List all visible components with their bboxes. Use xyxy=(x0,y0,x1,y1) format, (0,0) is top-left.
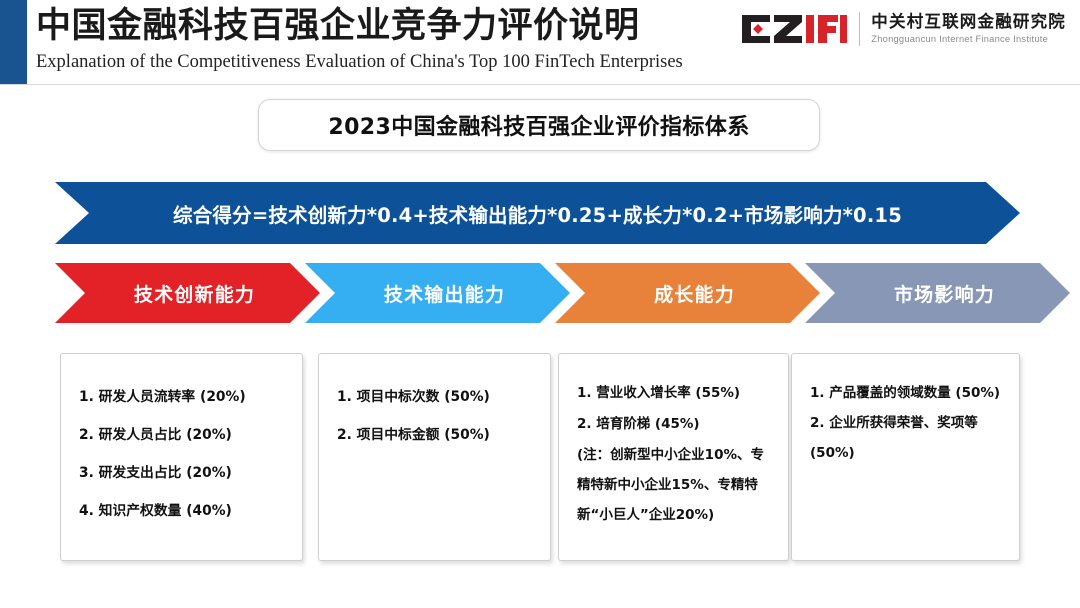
institute-logo: 中关村互联网金融研究院 Zhongguancun Internet Financ… xyxy=(740,12,1066,46)
formula-banner: 综合得分=技术创新力*0.4+技术输出能力*0.25+成长力*0.2+市场影响力… xyxy=(55,182,1020,244)
czifi-logo-icon xyxy=(740,14,848,44)
list-item-note: (注：创新型中小企业10%、专精特新中小企业15%、专精特新“小巨人”企业20%… xyxy=(577,440,774,530)
chevron-label-1: 技术输出能力 xyxy=(370,280,505,307)
chevron-market-influence[interactable]: 市场影响力 xyxy=(805,263,1070,323)
formula-text: 综合得分=技术创新力*0.4+技术输出能力*0.25+成长力*0.2+市场影响力… xyxy=(173,199,902,228)
list-item: 4. 知识产权数量 (40%) xyxy=(79,492,288,530)
section-title-text: 2023中国金融科技百强企业评价指标体系 xyxy=(328,109,749,141)
page-title-en: Explanation of the Competitiveness Evalu… xyxy=(36,50,736,74)
chevron-technology-innovation[interactable]: 技术创新能力 xyxy=(55,263,320,323)
header-accent-bar xyxy=(0,0,27,85)
list-item: 1. 营业收入增长率 (55%) xyxy=(577,378,774,409)
logo-divider xyxy=(859,12,860,46)
logo-name-cn: 中关村互联网金融研究院 xyxy=(871,14,1066,31)
slide-root: 中国金融科技百强企业竞争力评价说明 Explanation of the Com… xyxy=(0,0,1080,608)
header: 中国金融科技百强企业竞争力评价说明 Explanation of the Com… xyxy=(36,4,736,74)
list-item: 1. 研发人员流转率 (20%) xyxy=(79,378,288,416)
card-technology-output: 1. 项目中标次数 (50%) 2. 项目中标金额 (50%) xyxy=(318,353,551,561)
page-title-cn: 中国金融科技百强企业竞争力评价说明 xyxy=(36,4,736,48)
list-item: 3. 研发支出占比 (20%) xyxy=(79,454,288,492)
dimension-chevrons: 技术创新能力 技术输出能力 成长能力 市场影响力 xyxy=(55,263,1020,323)
chevron-label-3: 市场影响力 xyxy=(880,280,995,307)
chevron-label-2: 成长能力 xyxy=(640,280,735,307)
chevron-growth[interactable]: 成长能力 xyxy=(555,263,820,323)
indicator-cards: 1. 研发人员流转率 (20%) 2. 研发人员占比 (20%) 3. 研发支出… xyxy=(60,353,1020,565)
list-item: 2. 培育阶梯 (45%) xyxy=(577,409,774,440)
list-item: 1. 产品覆盖的领域数量 (50%) xyxy=(810,378,1005,408)
logo-text-block: 中关村互联网金融研究院 Zhongguancun Internet Financ… xyxy=(871,14,1066,44)
chevron-technology-output[interactable]: 技术输出能力 xyxy=(305,263,570,323)
logo-name-en: Zhongguancun Internet Finance Institute xyxy=(871,35,1066,44)
list-item: 2. 研发人员占比 (20%) xyxy=(79,416,288,454)
section-title-box: 2023中国金融科技百强企业评价指标体系 xyxy=(258,99,820,151)
card-technology-innovation: 1. 研发人员流转率 (20%) 2. 研发人员占比 (20%) 3. 研发支出… xyxy=(60,353,303,561)
card-growth: 1. 营业收入增长率 (55%) 2. 培育阶梯 (45%) (注：创新型中小企… xyxy=(558,353,789,561)
card-market-influence: 1. 产品覆盖的领域数量 (50%) 2. 企业所获得荣誉、奖项等 (50%) xyxy=(791,353,1020,561)
list-item: 2. 项目中标金额 (50%) xyxy=(337,416,536,454)
header-divider xyxy=(0,84,1080,85)
chevron-label-0: 技术创新能力 xyxy=(120,280,255,307)
list-item: 1. 项目中标次数 (50%) xyxy=(337,378,536,416)
list-item: 2. 企业所获得荣誉、奖项等 (50%) xyxy=(810,408,1005,468)
